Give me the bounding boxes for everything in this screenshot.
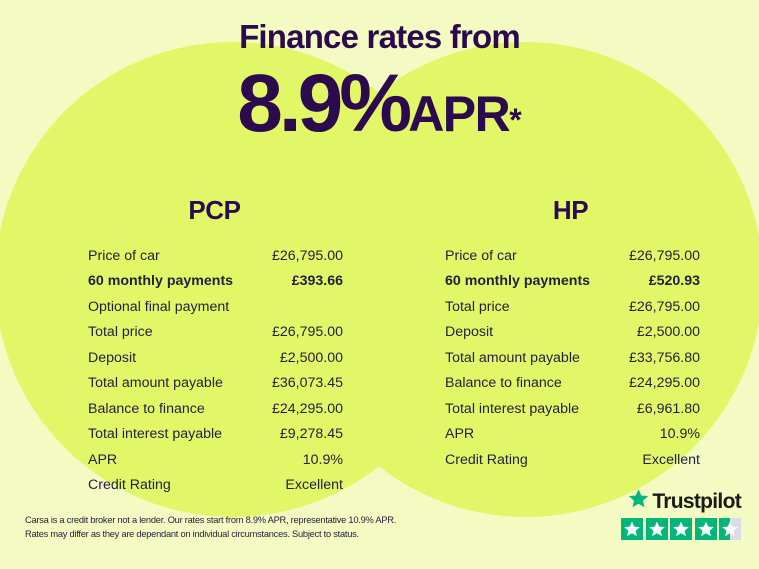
promo-canvas: Finance rates from 8.9%APR* PCP Price of… <box>0 0 759 569</box>
trustpilot-wordmark: Trustpilot <box>621 489 741 513</box>
table-row: Optional final payment <box>88 294 343 320</box>
table-row: APR10.9% <box>445 422 700 448</box>
row-value: £26,795.00 <box>272 324 343 340</box>
row-value: £2,500.00 <box>637 324 700 340</box>
rating-star-5-half <box>719 518 741 540</box>
row-label: Deposit <box>88 350 136 366</box>
row-value: 10.9% <box>660 426 700 442</box>
trustpilot-badge[interactable]: Trustpilot <box>621 489 741 540</box>
row-label: Credit Rating <box>445 452 528 468</box>
table-row: APR10.9% <box>88 447 343 473</box>
asterisk-marker: * <box>509 102 521 138</box>
rating-star-2 <box>646 518 668 540</box>
row-value: 10.9% <box>303 452 343 468</box>
finance-table-hp: HP Price of car£26,795.00 60 monthly pay… <box>379 195 758 498</box>
row-value: £33,756.80 <box>629 350 700 366</box>
row-label: Price of car <box>445 248 517 264</box>
row-label: Optional final payment <box>88 299 229 315</box>
rate-unit: APR <box>408 86 509 142</box>
row-label: Total interest payable <box>445 401 579 417</box>
table-row: Total price£26,795.00 <box>88 320 343 346</box>
table-row: Credit RatingExcellent <box>445 447 700 473</box>
row-label: Balance to finance <box>88 401 205 417</box>
row-label: Total amount payable <box>445 350 580 366</box>
table-row: 60 monthly payments£393.66 <box>88 269 343 295</box>
table-title-hp: HP <box>441 195 700 226</box>
table-row: Total amount payable£33,756.80 <box>445 345 700 371</box>
disclaimer-text: Carsa is a credit broker not a lender. O… <box>25 513 455 542</box>
table-row: Total amount payable£36,073.45 <box>88 371 343 397</box>
table-body-pcp: Price of car£26,795.00 60 monthly paymen… <box>88 243 343 498</box>
table-row: 60 monthly payments£520.93 <box>445 269 700 295</box>
row-label: Total price <box>445 299 510 315</box>
table-row: Credit RatingExcellent <box>88 473 343 499</box>
row-value: £24,295.00 <box>272 401 343 417</box>
row-label: Price of car <box>88 248 160 264</box>
row-value: £26,795.00 <box>629 299 700 315</box>
row-label: Balance to finance <box>445 375 562 391</box>
disclaimer-line-1: Carsa is a credit broker not a lender. O… <box>25 513 455 527</box>
row-label: APR <box>88 452 117 468</box>
table-title-pcp: PCP <box>86 195 343 226</box>
rate-value: 8.9% <box>237 58 408 149</box>
row-label: 60 monthly payments <box>445 273 590 289</box>
row-value: £520.93 <box>649 273 700 289</box>
row-label: Total price <box>88 324 153 340</box>
row-value: £26,795.00 <box>629 248 700 264</box>
row-value: £24,295.00 <box>629 375 700 391</box>
page-title: Finance rates from <box>0 20 759 53</box>
header: Finance rates from 8.9%APR* <box>0 0 759 145</box>
row-label: Credit Rating <box>88 477 171 493</box>
trustpilot-rating-stars <box>621 518 741 540</box>
table-row: Price of car£26,795.00 <box>445 243 700 269</box>
trustpilot-star-icon <box>628 488 649 514</box>
row-value: Excellent <box>285 477 343 493</box>
table-row: Balance to finance£24,295.00 <box>445 371 700 397</box>
row-label: Total interest payable <box>88 426 222 442</box>
rating-star-3 <box>670 518 692 540</box>
trustpilot-label: Trustpilot <box>652 491 741 512</box>
row-value: £393.66 <box>292 273 343 289</box>
row-value: £36,073.45 <box>272 375 343 391</box>
row-label: Deposit <box>445 324 493 340</box>
table-row: Deposit£2,500.00 <box>445 320 700 346</box>
row-value: £2,500.00 <box>280 350 343 366</box>
table-row: Deposit£2,500.00 <box>88 345 343 371</box>
row-label: APR <box>445 426 474 442</box>
rating-star-1 <box>621 518 643 540</box>
row-label: Total amount payable <box>88 375 223 391</box>
rate-display: 8.9%APR* <box>0 63 759 145</box>
table-row: Total interest payable£6,961.80 <box>445 396 700 422</box>
row-value: £9,278.45 <box>280 426 343 442</box>
rating-star-4 <box>695 518 717 540</box>
table-row: Total price£26,795.00 <box>445 294 700 320</box>
row-value: Excellent <box>642 452 700 468</box>
table-row: Total interest payable£9,278.45 <box>88 422 343 448</box>
finance-table-pcp: PCP Price of car£26,795.00 60 monthly pa… <box>0 195 379 498</box>
table-row: Balance to finance£24,295.00 <box>88 396 343 422</box>
row-label: 60 monthly payments <box>88 273 233 289</box>
table-body-hp: Price of car£26,795.00 60 monthly paymen… <box>445 243 700 473</box>
finance-tables: PCP Price of car£26,795.00 60 monthly pa… <box>0 195 759 498</box>
row-value: £26,795.00 <box>272 248 343 264</box>
disclaimer-line-2: Rates may differ as they are dependant o… <box>25 527 455 541</box>
row-value: £6,961.80 <box>637 401 700 417</box>
table-row: Price of car£26,795.00 <box>88 243 343 269</box>
